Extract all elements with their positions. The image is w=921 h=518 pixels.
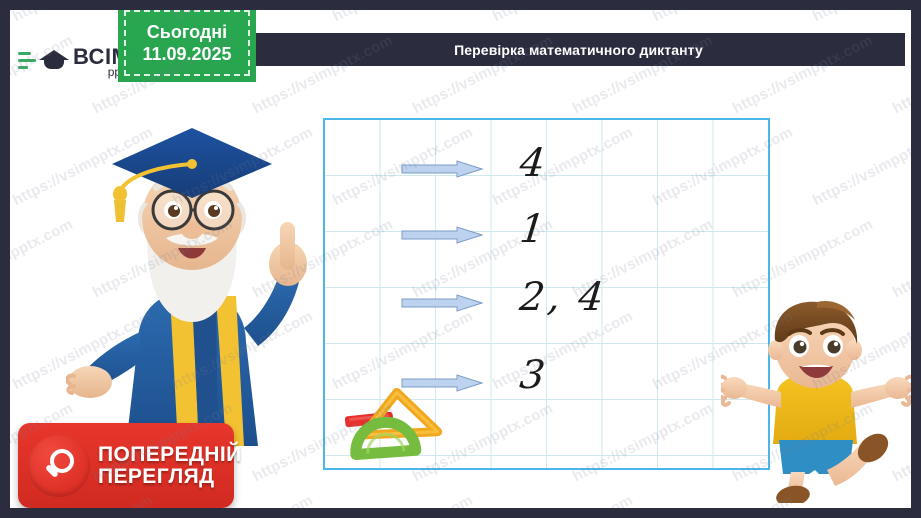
page-title: Перевірка математичного диктанту	[454, 42, 703, 58]
title-bar: Перевірка математичного диктанту	[252, 33, 905, 66]
preview-button[interactable]: ПОПЕРЕДНІЙ ПЕРЕГЛЯД	[18, 423, 234, 508]
right-arrow-icon	[401, 226, 483, 244]
answer-row: 4	[325, 142, 768, 198]
happy-boy-character	[721, 298, 911, 503]
answer-value: 3	[518, 356, 550, 395]
brand-logo[interactable]: ВСІМ pptx	[10, 33, 132, 90]
preview-label-line1: ПОПЕРЕДНІЙ	[98, 444, 242, 465]
watermark-text: https://vsimpptx.com	[490, 492, 636, 508]
graduation-cap-icon	[39, 48, 69, 76]
answer-value: 4	[518, 144, 550, 183]
watermark-text: https://vsimpptx.com	[330, 10, 476, 25]
watermark-text: https://vsimpptx.com	[810, 10, 911, 25]
magnifier-icon	[28, 435, 90, 497]
right-arrow-icon	[401, 294, 483, 312]
preview-button-label: ПОПЕРЕДНІЙ ПЕРЕГЛЯД	[98, 444, 242, 487]
watermark-text: https://vsimpptx.com	[810, 124, 911, 209]
slide-frame: 4 1 2, 4	[0, 0, 921, 518]
answer-value: 2, 4	[518, 278, 609, 317]
watermark-text: https://vsimpptx.com	[650, 10, 796, 25]
slide-canvas: 4 1 2, 4	[10, 10, 911, 508]
watermark-text: https://vsimpptx.com	[330, 492, 476, 508]
right-arrow-icon	[401, 160, 483, 178]
date-badge: Сьогодні 11.09.2025	[118, 10, 256, 82]
answer-value: 1	[518, 210, 550, 249]
today-label: Сьогодні	[147, 21, 227, 44]
worksheet-grid: 4 1 2, 4	[323, 118, 770, 470]
answer-row: 2, 4	[325, 276, 768, 332]
preview-label-line2: ПЕРЕГЛЯД	[98, 466, 242, 487]
watermark-text: https://vsimpptx.com	[890, 216, 911, 301]
date-value: 11.09.2025	[142, 43, 231, 66]
school-supplies-group	[345, 384, 465, 462]
professor-character	[66, 114, 318, 446]
watermark-text: https://vsimpptx.com	[490, 10, 636, 25]
answer-row: 1	[325, 208, 768, 264]
speed-lines-icon	[18, 49, 38, 75]
